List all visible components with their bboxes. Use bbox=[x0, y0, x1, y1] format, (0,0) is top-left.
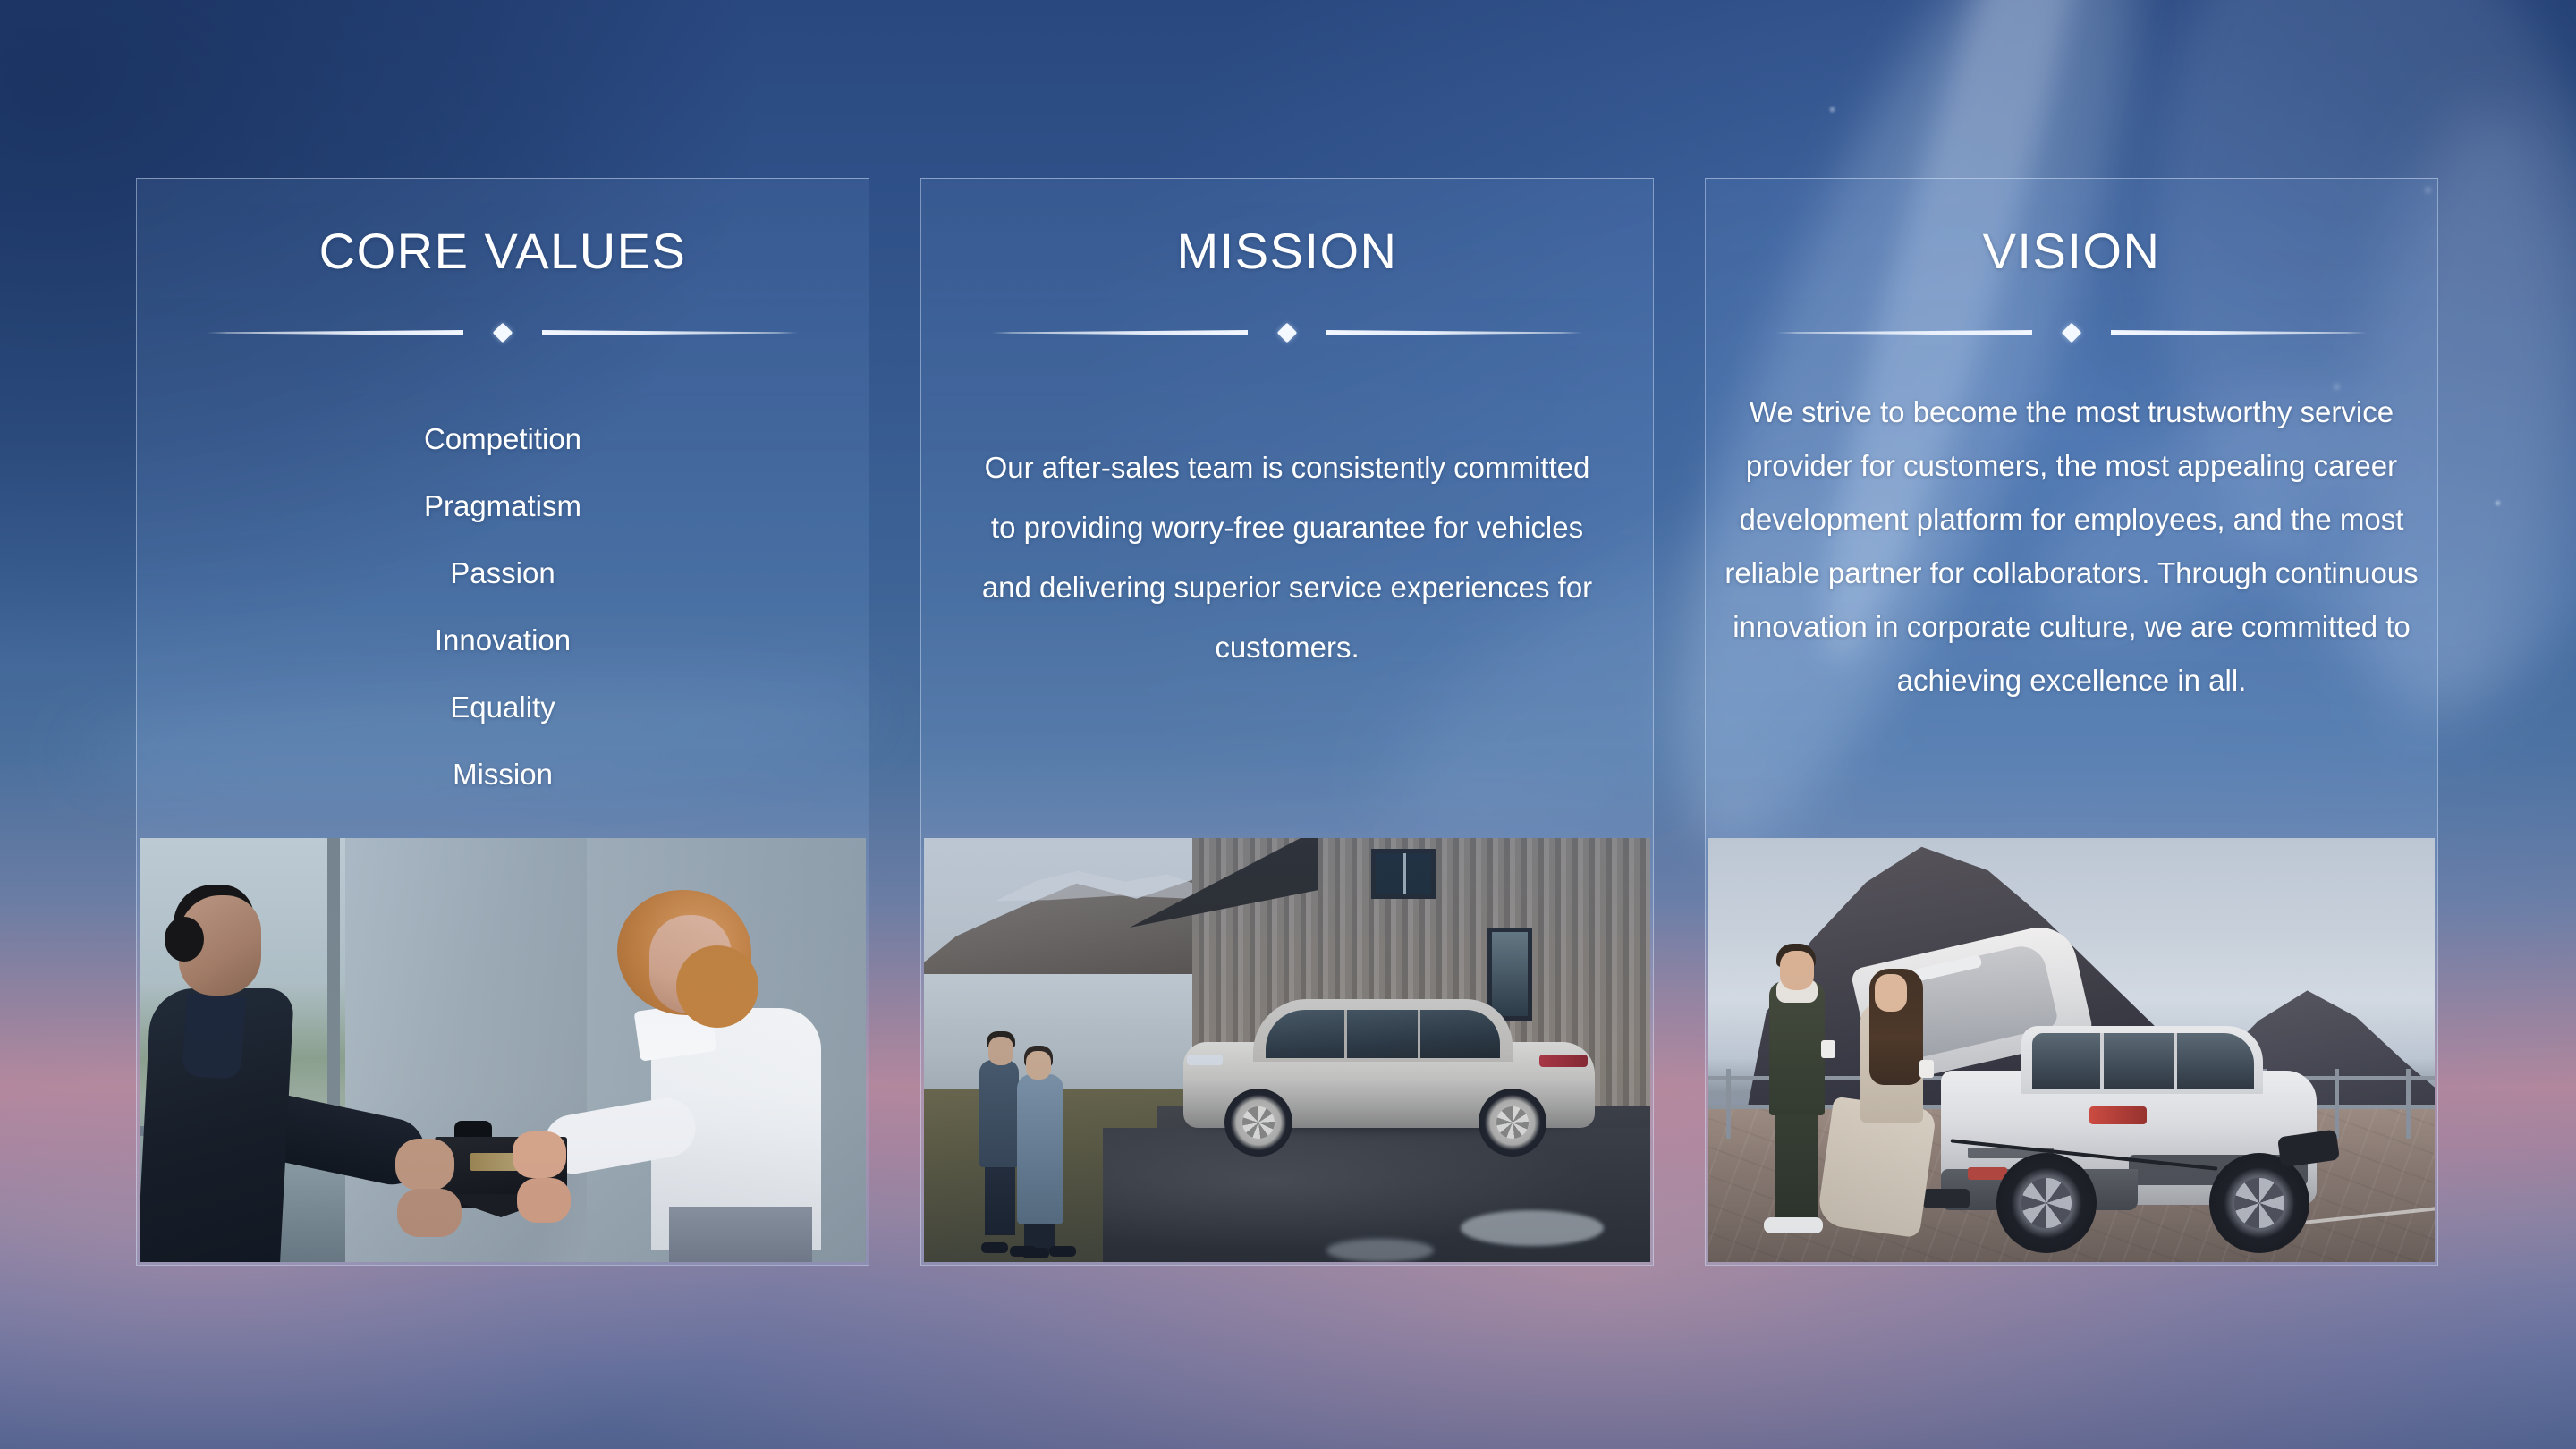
card-mission[interactable]: MISSION Our after-sales team is consiste… bbox=[920, 178, 1654, 1266]
diamond-icon bbox=[2062, 323, 2082, 343]
diamond-icon bbox=[1277, 323, 1298, 343]
card-title-core-values: CORE VALUES bbox=[319, 226, 687, 276]
cards-row: CORE VALUES Competition Pragmatism Passi… bbox=[136, 178, 2438, 1266]
slide-canvas: CORE VALUES Competition Pragmatism Passi… bbox=[0, 0, 2576, 1449]
list-item: Passion bbox=[450, 539, 555, 606]
fjord-house-car-photo bbox=[924, 838, 1650, 1262]
card-vision[interactable]: VISION We strive to become the most trus… bbox=[1705, 178, 2438, 1266]
list-item: Pragmatism bbox=[424, 472, 581, 539]
key-handover-photo bbox=[140, 838, 866, 1262]
list-item: Mission bbox=[453, 741, 553, 808]
divider-line-left-icon bbox=[207, 330, 463, 335]
core-values-list: Competition Pragmatism Passion Innovatio… bbox=[137, 405, 869, 808]
list-item: Competition bbox=[424, 405, 581, 472]
divider-line-right-icon bbox=[542, 330, 799, 335]
divider-line-right-icon bbox=[1326, 330, 1583, 335]
window-icon bbox=[1371, 849, 1436, 899]
diamond-divider bbox=[207, 323, 799, 343]
mission-body-text: Our after-sales team is consistently com… bbox=[979, 437, 1596, 677]
card-title-vision: VISION bbox=[1983, 226, 2161, 276]
list-item: Innovation bbox=[435, 606, 571, 674]
card-title-mission: MISSION bbox=[1177, 226, 1398, 276]
diamond-icon bbox=[493, 323, 513, 343]
vision-body-text: We strive to become the most trustworthy… bbox=[1714, 386, 2429, 708]
diamond-divider bbox=[991, 323, 1583, 343]
card-core-values[interactable]: CORE VALUES Competition Pragmatism Passi… bbox=[136, 178, 869, 1266]
charging-tailgate-photo bbox=[1708, 838, 2435, 1262]
divider-line-left-icon bbox=[991, 330, 1248, 335]
sky-speck-icon bbox=[2495, 501, 2500, 505]
divider-line-left-icon bbox=[1775, 330, 2032, 335]
byd-suv-car-icon bbox=[1183, 996, 1595, 1157]
list-item: Equality bbox=[450, 674, 555, 741]
sky-speck-icon bbox=[1830, 107, 1835, 112]
divider-line-right-icon bbox=[2111, 330, 2368, 335]
diamond-divider bbox=[1775, 323, 2368, 343]
